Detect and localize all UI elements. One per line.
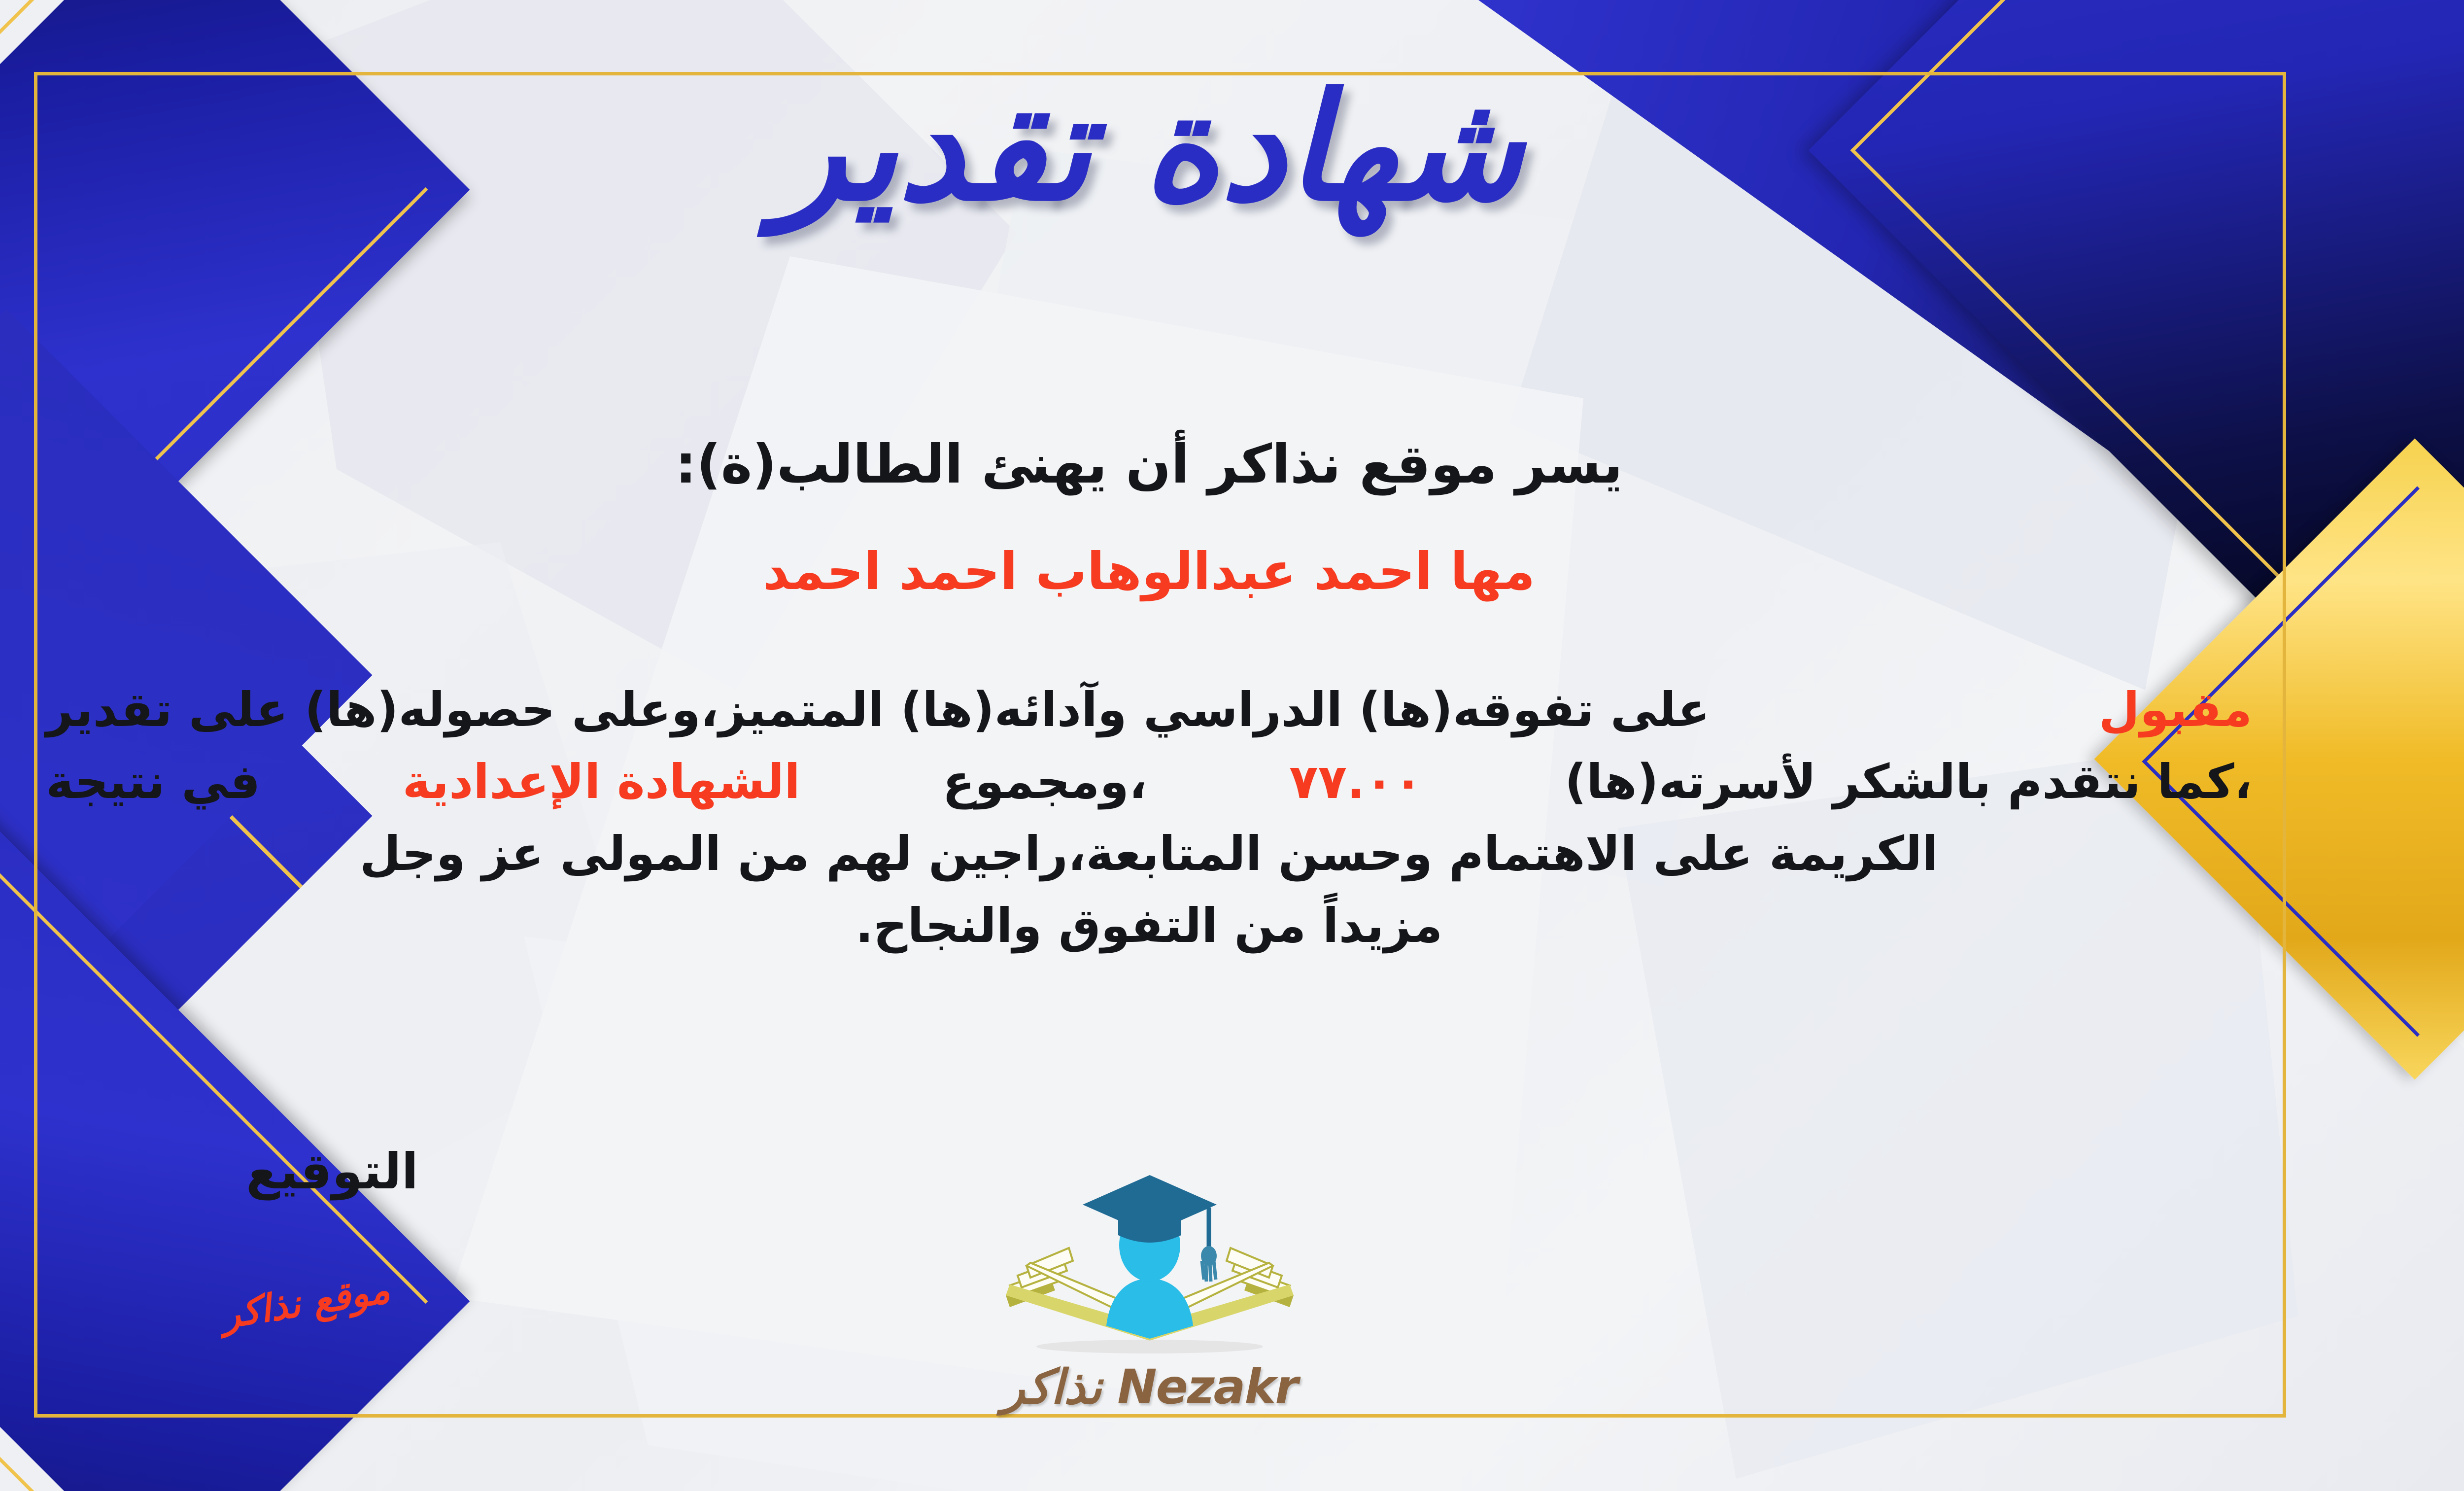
greeting-line: يسر موقع نذاكر أن يهنئ الطالب(ة): <box>0 434 2464 495</box>
certificate-page: شهادة تقدير يسر موقع نذاكر أن يهنئ الطال… <box>0 0 2464 1491</box>
body-line-1: مقبول على تفوقه(ها) الدراسي وآدائه(ها) ا… <box>46 674 2252 746</box>
signature-label: التوقيع <box>246 1143 418 1200</box>
signature-mark: موقع نذاكر <box>218 1267 392 1337</box>
body-line-2: ،كما نتقدم بالشكر لأسرته(ها) ٧٧.٠٠ ،ومجم… <box>46 746 2252 818</box>
grade-value: مقبول <box>2099 674 2252 746</box>
exam-name-value: الشهادة الإعدادية <box>403 746 800 818</box>
certificate-title: شهادة تقدير <box>0 74 2464 222</box>
nezakr-logo: Nezakr نذاكر <box>953 1129 1347 1415</box>
body-line-1-text: على تفوقه(ها) الدراسي وآدائه(ها) المتميز… <box>46 674 1710 746</box>
body-line-2-mid: ،ومجموع <box>943 746 1147 818</box>
student-name: مها احمد عبدالوهاب احمد احمد <box>0 541 2464 601</box>
body-line-4: مزيداً من التفوق والنجاح. <box>46 890 2252 962</box>
logo-wordmark: Nezakr نذاكر <box>953 1359 1347 1415</box>
certificate-body: مقبول على تفوقه(ها) الدراسي وآدائه(ها) ا… <box>46 674 2252 962</box>
body-line-3: الكريمة على الاهتمام وحسن المتابعة،راجين… <box>46 818 2252 890</box>
graduation-cap-tassel <box>1202 1261 1216 1282</box>
body-line-2-head: في نتيجة <box>46 746 260 818</box>
total-score-value: ٧٧.٠٠ <box>1289 746 1423 818</box>
body-line-2-tail: ،كما نتقدم بالشكر لأسرته(ها) <box>1565 746 2252 818</box>
certificate-content: شهادة تقدير يسر موقع نذاكر أن يهنئ الطال… <box>0 0 2464 1491</box>
student-body <box>1106 1279 1193 1339</box>
book-shadow <box>1036 1340 1263 1353</box>
